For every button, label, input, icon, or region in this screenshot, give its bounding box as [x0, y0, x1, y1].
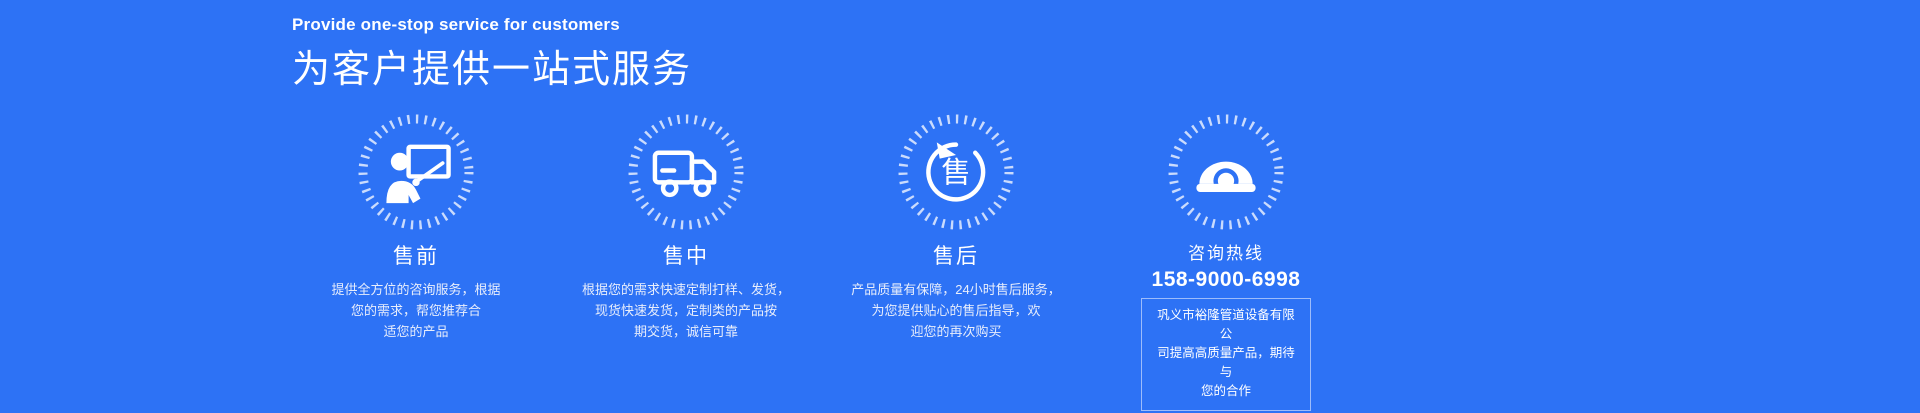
- insale-desc-line-3: 期交货，诚信可靠: [571, 321, 801, 342]
- insale-desc-line-2: 现货快速发货，定制类的产品按: [571, 300, 801, 321]
- hotline-number[interactable]: 158-9000-6998: [1152, 267, 1301, 292]
- presale-desc-line-3: 适您的产品: [301, 321, 531, 342]
- service-column-insale[interactable]: 售中 根据您的需求快速定制打样、发货， 现货快速发货，定制类的产品按 期交货，诚…: [552, 112, 820, 342]
- service-columns: 售前 提供全方位的咨询服务，根据 您的需求，帮您推荐合 适您的产品: [282, 112, 1642, 411]
- service-column-presale[interactable]: 售前 提供全方位的咨询服务，根据 您的需求，帮您推荐合 适您的产品: [282, 112, 550, 342]
- presale-medallion: [356, 112, 476, 232]
- company-info-line-3: 您的合作: [1152, 382, 1300, 401]
- company-info-box: 巩义市裕隆管道设备有限公 司提高高质量产品，期待与 您的合作: [1141, 298, 1311, 411]
- presale-desc-line-2: 您的需求，帮您推荐合: [301, 300, 531, 321]
- hotline-medallion: [1166, 112, 1286, 232]
- presale-title: 售前: [393, 244, 439, 269]
- after-sale-circular-arrow-icon: 售: [919, 135, 993, 209]
- service-banner: Provide one-stop service for customers 为…: [0, 0, 1920, 413]
- delivery-truck-icon: [649, 135, 723, 209]
- aftersale-desc-line-1: 产品质量有保障，24小时售后服务，: [841, 279, 1071, 300]
- company-info-line-1: 巩义市裕隆管道设备有限公: [1152, 306, 1300, 344]
- heading-english: Provide one-stop service for customers: [292, 16, 692, 35]
- aftersale-desc-line-2: 为您提供贴心的售后指导，欢: [841, 300, 1071, 321]
- hotline-label: 咨询热线: [1188, 244, 1264, 264]
- banner-heading: Provide one-stop service for customers 为…: [292, 16, 692, 94]
- aftersale-description: 产品质量有保障，24小时售后服务， 为您提供贴心的售后指导，欢 迎您的再次购买: [841, 279, 1071, 342]
- svg-text:售: 售: [941, 156, 971, 189]
- presentation-teacher-icon: [379, 135, 453, 209]
- telephone-icon: [1189, 135, 1263, 209]
- service-column-hotline[interactable]: 咨询热线 158-9000-6998 巩义市裕隆管道设备有限公 司提高高质量产品…: [1092, 112, 1360, 411]
- aftersale-desc-line-3: 迎您的再次购买: [841, 321, 1071, 342]
- service-column-aftersale[interactable]: 售 售后 产品质量有保障，24小时售后服务， 为您提供贴心的售后指导，欢 迎您的…: [822, 112, 1090, 342]
- insale-desc-line-1: 根据您的需求快速定制打样、发货，: [571, 279, 801, 300]
- presale-desc-line-1: 提供全方位的咨询服务，根据: [301, 279, 531, 300]
- company-info-line-2: 司提高高质量产品，期待与: [1152, 344, 1300, 382]
- insale-description: 根据您的需求快速定制打样、发货， 现货快速发货，定制类的产品按 期交货，诚信可靠: [571, 279, 801, 342]
- aftersale-medallion: 售: [896, 112, 1016, 232]
- insale-title: 售中: [663, 244, 709, 269]
- aftersale-title: 售后: [933, 244, 979, 269]
- presale-description: 提供全方位的咨询服务，根据 您的需求，帮您推荐合 适您的产品: [301, 279, 531, 342]
- insale-medallion: [626, 112, 746, 232]
- heading-chinese: 为客户提供一站式服务: [292, 47, 692, 95]
